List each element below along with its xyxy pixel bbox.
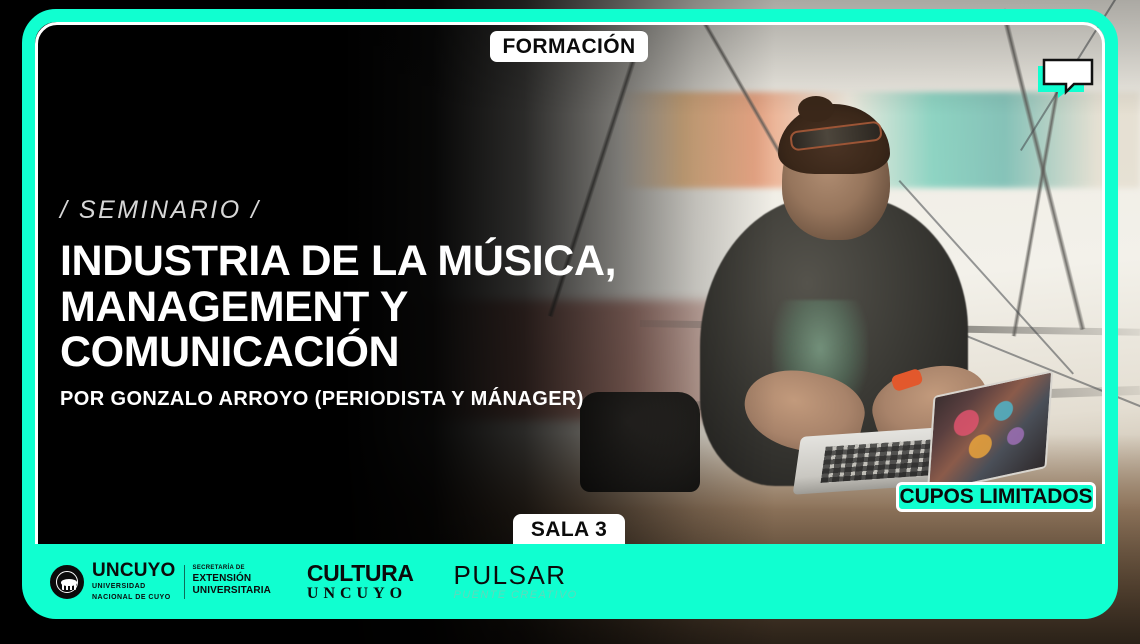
badge-availability: CUPOS LIMITADOS (896, 482, 1096, 512)
secretaria-line-1: SECRETARÍA DE (193, 565, 271, 573)
uncuyo-sub-line-1: UNIVERSIDAD (92, 582, 176, 591)
speech-bubble-mark-icon (1034, 52, 1098, 98)
logo-pulsar: PULSAR PUENTE CREATIVO (454, 562, 578, 601)
badge-category: FORMACIÓN (490, 31, 648, 62)
footer-logo-bar: UNCUYO UNIVERSIDAD NACIONAL DE CUYO SECR… (22, 544, 1118, 619)
pulsar-word: PULSAR (454, 562, 578, 588)
university-seal-icon (50, 565, 84, 599)
uncuyo-wordmark: UNCUYO UNIVERSIDAD NACIONAL DE CUYO (92, 561, 176, 603)
secretaria-line-3: UNIVERSITARIA (193, 585, 271, 598)
pulsar-tagline: PUENTE CREATIVO (454, 590, 578, 601)
speaker-byline: POR GONZALO ARROYO (PERIODISTA Y MÁNAGER… (60, 388, 760, 411)
page-title: INDUSTRIA DE LA MÚSICA, MANAGEMENT Y COM… (60, 239, 760, 376)
uncuyo-sub-line-2: NACIONAL DE CUYO (92, 593, 176, 602)
logo-uncuyo: UNCUYO UNIVERSIDAD NACIONAL DE CUYO SECR… (50, 561, 271, 603)
secretaria-lockup: SECRETARÍA DE EXTENSIÓN UNIVERSITARIA (193, 565, 271, 598)
cultura-sub: UNCUYO (307, 586, 414, 602)
seal-bars (62, 583, 76, 590)
logo-divider (184, 565, 185, 599)
cultura-word: CULTURA (307, 562, 414, 585)
logo-cultura-uncuyo: CULTURA UNCUYO (307, 562, 414, 602)
badge-room: SALA 3 (513, 514, 625, 546)
event-type-eyebrow: / SEMINARIO / (60, 196, 760, 225)
poster-canvas: / SEMINARIO / INDUSTRIA DE LA MÚSICA, MA… (0, 0, 1140, 644)
headline-line-1: INDUSTRIA DE LA MÚSICA, (60, 239, 760, 285)
copy-block: / SEMINARIO / INDUSTRIA DE LA MÚSICA, MA… (60, 196, 760, 411)
headline-line-2: MANAGEMENT Y (60, 285, 760, 331)
secretaria-line-2: EXTENSIÓN (193, 573, 271, 586)
uncuyo-word: UNCUYO (92, 561, 176, 580)
headline-line-3: COMUNICACIÓN (60, 330, 760, 376)
